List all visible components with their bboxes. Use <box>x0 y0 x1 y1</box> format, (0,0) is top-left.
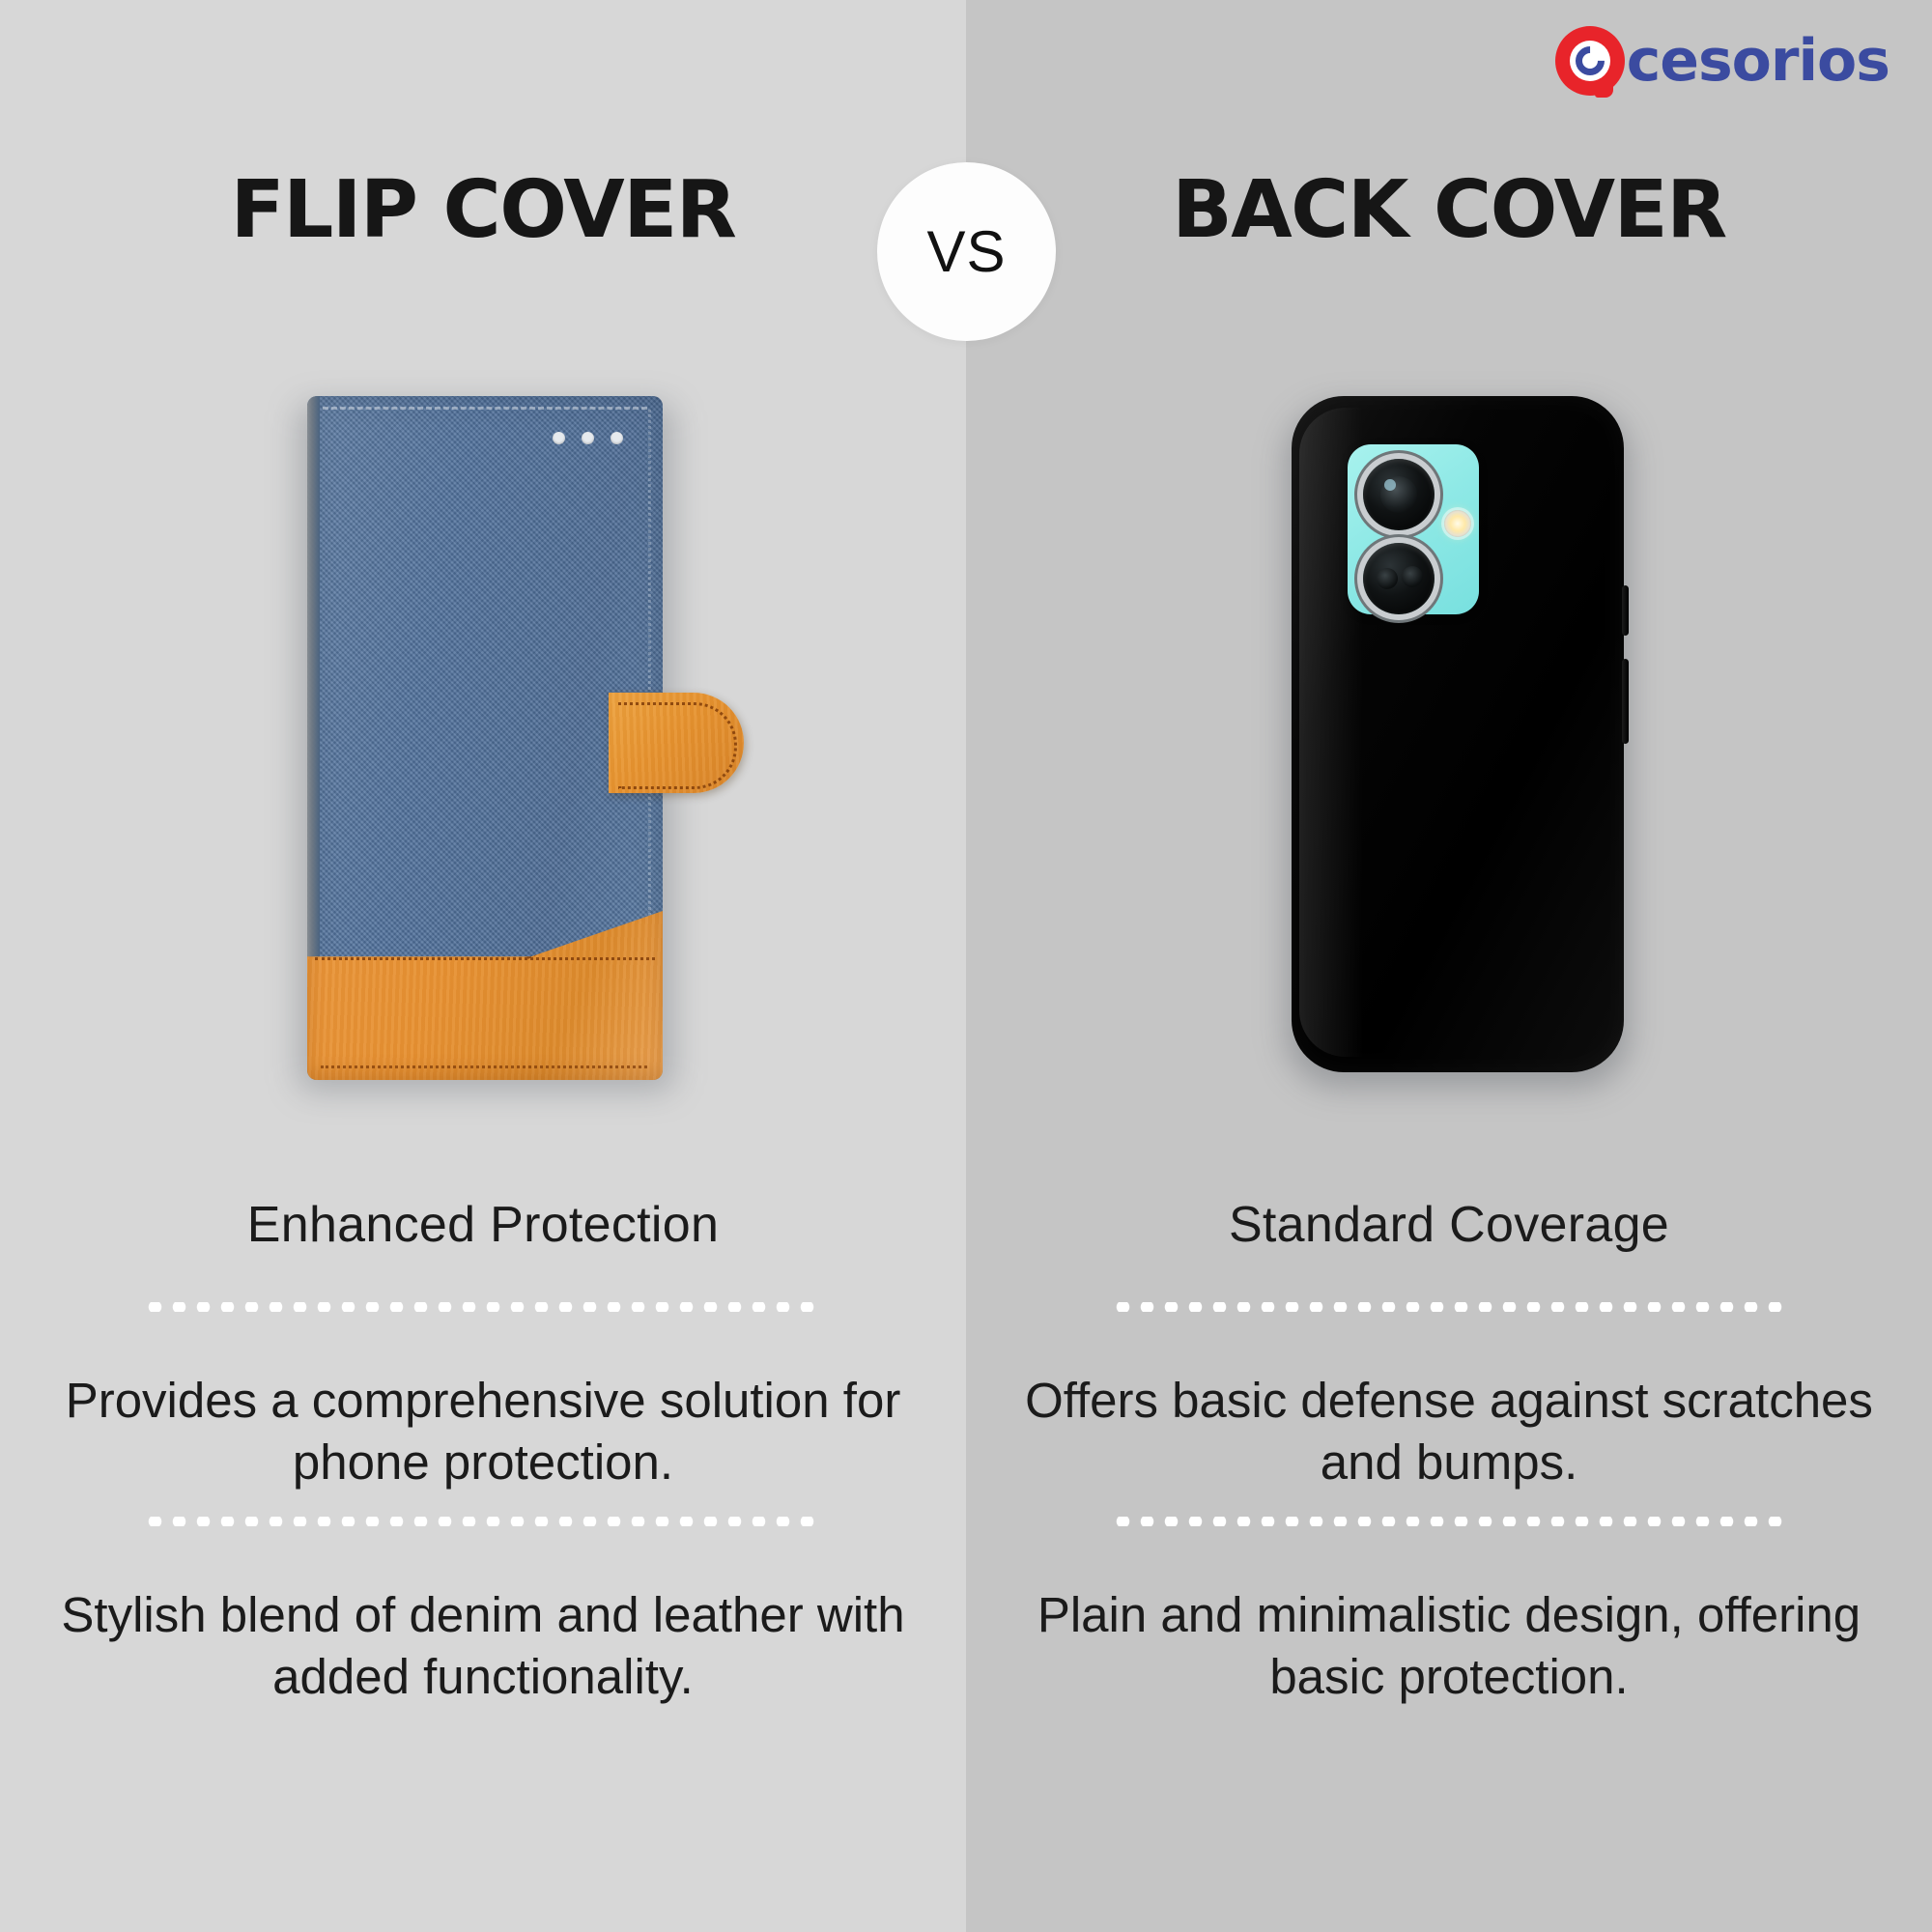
flap-stitching <box>618 702 737 789</box>
left-column-caption: Enhanced Protection <box>0 1196 966 1254</box>
flip-cover-bottom-stitching <box>321 1065 647 1068</box>
lens-sub-element <box>1377 568 1398 589</box>
left-column-title: FLIP COVER <box>0 164 966 256</box>
right-column-title: BACK COVER <box>966 164 1932 256</box>
acesorios-logo-icon <box>1555 26 1625 96</box>
leather-stitch-horizontal <box>315 957 655 960</box>
vs-badge-label: VS <box>926 218 1006 285</box>
back-cover-body <box>1292 396 1624 1072</box>
left-divider-top <box>143 1302 819 1312</box>
flip-cover-top-stitching <box>323 407 647 410</box>
camera-module <box>1348 444 1479 614</box>
right-divider-bottom <box>1111 1517 1787 1526</box>
leather-sheet <box>307 911 663 1080</box>
flip-cover-magnetic-flap <box>609 693 744 793</box>
camera-flash-icon <box>1444 510 1471 537</box>
brand-wordmark: cesorios <box>1627 32 1889 90</box>
brand-logo: cesorios <box>1555 25 1889 97</box>
left-feature-1: Provides a comprehensive solution for ph… <box>58 1370 908 1494</box>
secondary-camera-lens-icon <box>1363 543 1435 614</box>
right-feature-1: Offers basic defense against scratches a… <box>1024 1370 1874 1494</box>
right-divider-top <box>1111 1302 1787 1312</box>
left-divider-bottom <box>143 1517 819 1526</box>
lens-highlight <box>1384 479 1396 491</box>
power-button <box>1622 659 1629 744</box>
flip-cover-phone-case-icon <box>307 396 665 1087</box>
flip-cover-camera-holes <box>553 432 623 444</box>
comparison-infographic: cesorios FLIP COVER BACK COVER VS <box>0 0 1932 1932</box>
main-camera-lens-icon <box>1363 459 1435 530</box>
flip-cover-leather-panel <box>307 911 663 1080</box>
left-feature-2: Stylish blend of denim and leather with … <box>58 1584 908 1709</box>
right-column-caption: Standard Coverage <box>966 1196 1932 1254</box>
volume-button <box>1622 585 1629 636</box>
camera-hole <box>553 432 565 444</box>
camera-hole <box>582 432 594 444</box>
lens-sub-element <box>1402 566 1423 587</box>
leather-stitch-diagonal <box>526 911 659 959</box>
vs-badge: VS <box>877 162 1056 341</box>
back-cover-phone-case-icon <box>1292 396 1630 1087</box>
camera-hole <box>611 432 623 444</box>
right-feature-2: Plain and minimalistic design, offering … <box>1024 1584 1874 1709</box>
